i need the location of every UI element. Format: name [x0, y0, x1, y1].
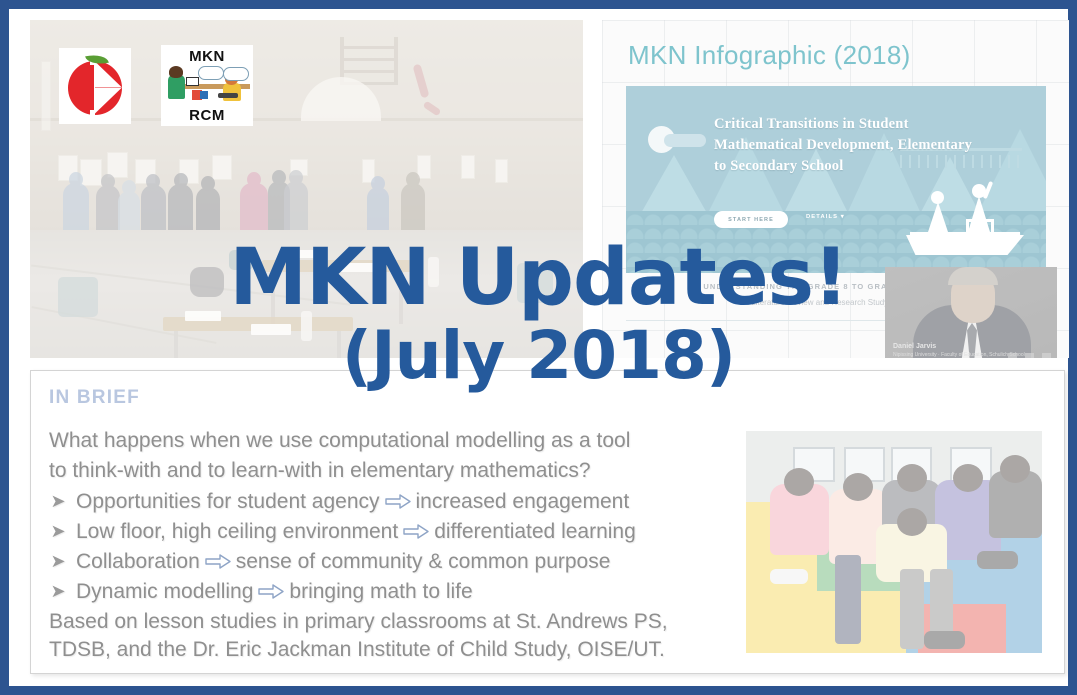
- infographic-hero-banner: Critical Transitions in Student Mathemat…: [626, 86, 1046, 273]
- sailboat-graphic: [906, 187, 1024, 265]
- right-arrow-icon: [258, 584, 284, 599]
- bullet-text: Opportunities for student agencyincrease…: [76, 488, 629, 516]
- mkn-logo-bottom-label: RCM: [161, 107, 253, 124]
- brief-question-line-2: to think-with and to learn-with in eleme…: [49, 457, 729, 485]
- in-brief-panel: IN BRIEF What happens when we use comput…: [30, 370, 1065, 674]
- in-brief-body: What happens when we use computational m…: [49, 427, 729, 607]
- mkn-logo-top-label: MKN: [161, 48, 253, 65]
- photo-fade-overlay: [746, 431, 1042, 653]
- list-item: ➤ Collaborationsense of community & comm…: [49, 547, 729, 577]
- start-here-button[interactable]: START HERE: [714, 211, 788, 228]
- slide-frame: MKN RCM MKN Infographic (2018): [0, 0, 1077, 695]
- list-item: ➤ Dynamic modellingbringing math to life: [49, 577, 729, 607]
- bullet-arrow-icon: ➤: [49, 580, 67, 604]
- bullet-text: Dynamic modellingbringing math to life: [76, 578, 473, 606]
- infographic-title: MKN Infographic (2018): [628, 40, 911, 71]
- bullet-text: Collaborationsense of community & common…: [76, 548, 610, 576]
- chevron-down-icon: ▾: [841, 214, 845, 220]
- top-media-row: MKN RCM MKN Infographic (2018): [18, 9, 1059, 359]
- in-brief-heading: IN BRIEF: [49, 387, 140, 409]
- apple-k-icon: [68, 61, 122, 115]
- right-arrow-icon: [403, 524, 429, 539]
- bullet-arrow-icon: ➤: [49, 490, 67, 514]
- knowledge-network-logo: [59, 48, 131, 124]
- right-arrow-icon: [205, 554, 231, 569]
- brief-footer-line-2: TDSB, and the Dr. Eric Jackman Institute…: [49, 636, 739, 664]
- gym-workshop-photo: MKN RCM: [30, 20, 583, 358]
- list-item: ➤ Low floor, high ceiling environmentdif…: [49, 517, 729, 547]
- details-label: DETAILS: [806, 214, 838, 220]
- mkn-rcm-logo: MKN RCM: [161, 45, 253, 126]
- mkn-logo-illustration: [164, 65, 250, 105]
- classroom-photo: [746, 431, 1042, 653]
- brief-bullet-list: ➤ Opportunities for student agencyincrea…: [49, 487, 729, 607]
- bullet-arrow-icon: ➤: [49, 520, 67, 544]
- cloud-icon: [664, 134, 706, 147]
- infographic-hero-heading: Critical Transitions in Student Mathemat…: [714, 114, 974, 177]
- video-fade-overlay: [885, 267, 1057, 358]
- details-dropdown[interactable]: DETAILS ▾: [806, 214, 845, 220]
- video-thumbnail[interactable]: Daniel Jarvis Nipissing University · Fac…: [885, 267, 1057, 358]
- bullet-arrow-icon: ➤: [49, 550, 67, 574]
- in-brief-footer: Based on lesson studies in primary class…: [49, 608, 739, 664]
- bullet-text: Low floor, high ceiling environmentdiffe…: [76, 518, 636, 546]
- brief-question-line-1: What happens when we use computational m…: [49, 427, 729, 455]
- right-arrow-icon: [385, 494, 411, 509]
- brief-footer-line-1: Based on lesson studies in primary class…: [49, 608, 739, 636]
- list-item: ➤ Opportunities for student agencyincrea…: [49, 487, 729, 517]
- infographic-screenshot[interactable]: MKN Infographic (2018) Critical Transiti…: [602, 20, 1069, 358]
